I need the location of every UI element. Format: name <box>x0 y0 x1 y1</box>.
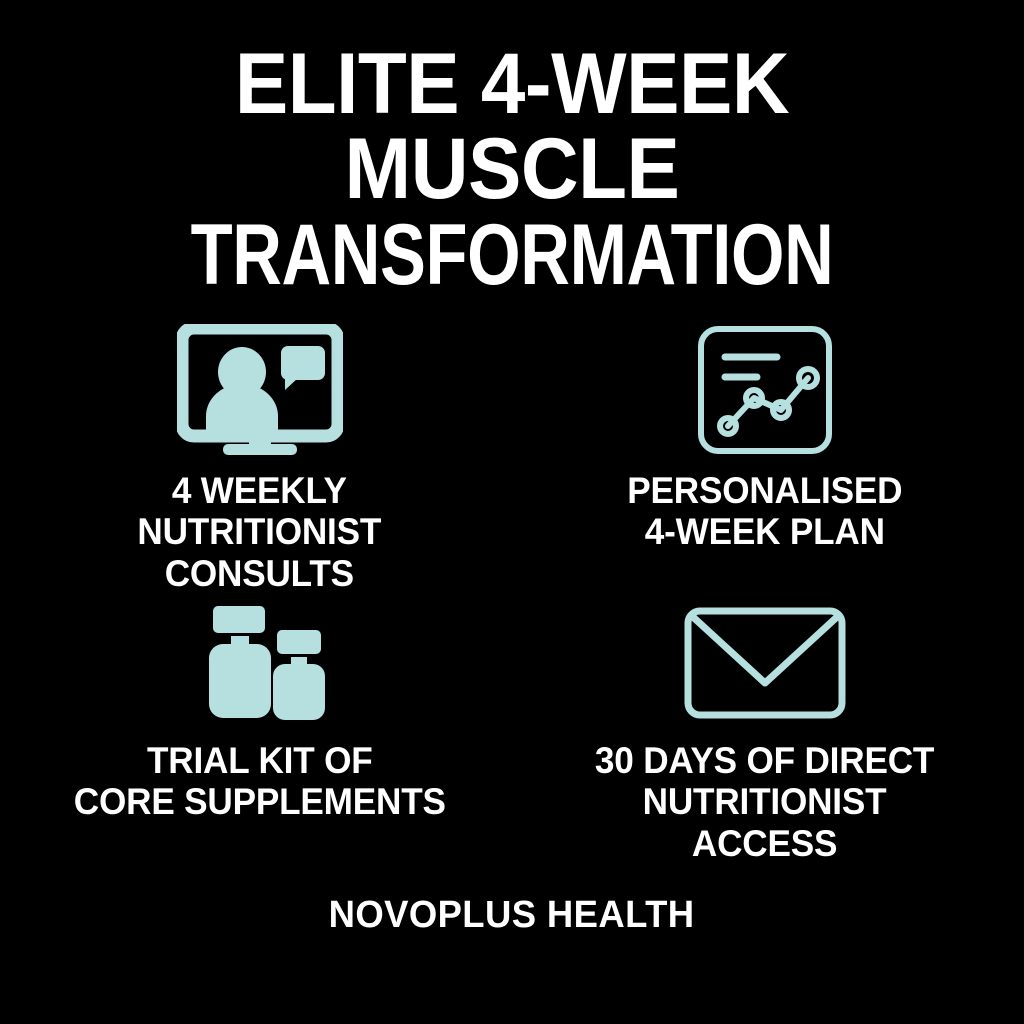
caption-line-2: 4-WEEK PLAN <box>627 511 902 552</box>
feature-item-consults: 4 WEEKLY NUTRITIONIST CONSULTS <box>12 324 507 594</box>
caption-line-3: ACCESS <box>595 823 934 864</box>
caption-line-1: 4 WEEKLY <box>138 470 382 511</box>
video-consult-monitor-icon <box>175 324 345 456</box>
caption-line-1: 30 DAYS OF DIRECT <box>595 740 934 781</box>
caption-line-2: CORE SUPPLEMENTS <box>74 781 446 822</box>
caption-line-1: TRIAL KIT OF <box>74 740 446 781</box>
caption-line-2: NUTRITIONIST <box>595 781 934 822</box>
supplement-bottles-icon <box>175 600 345 726</box>
feature-item-access: 30 DAYS OF DIRECT NUTRITIONIST ACCESS <box>517 600 1012 864</box>
feature-item-supplements: TRIAL KIT OF CORE SUPPLEMENTS <box>12 600 507 864</box>
feature-grid: 4 WEEKLY NUTRITIONIST CONSULTS <box>12 324 1012 865</box>
feature-caption: TRIAL KIT OF CORE SUPPLEMENTS <box>74 740 446 823</box>
progress-chart-icon <box>680 324 850 456</box>
caption-line-2: NUTRITIONIST <box>138 511 382 552</box>
feature-caption: 30 DAYS OF DIRECT NUTRITIONIST ACCESS <box>595 740 934 864</box>
feature-caption: PERSONALISED 4-WEEK PLAN <box>627 470 902 553</box>
caption-line-3: CONSULTS <box>138 553 382 594</box>
feature-caption: 4 WEEKLY NUTRITIONIST CONSULTS <box>138 470 382 594</box>
brand-footer: NOVOPLUS HEALTH <box>329 894 695 937</box>
promo-poster: ELITE 4-WEEK MUSCLE TRANSFORMATION <box>0 0 1024 1024</box>
feature-item-plan: PERSONALISED 4-WEEK PLAN <box>517 324 1012 594</box>
caption-line-1: PERSONALISED <box>627 470 902 511</box>
envelope-icon <box>680 600 850 726</box>
page-title: ELITE 4-WEEK MUSCLE TRANSFORMATION <box>32 44 992 298</box>
title-line-3: TRANSFORMATION <box>128 212 896 298</box>
title-line-1: ELITE 4-WEEK <box>66 44 959 126</box>
title-line-2: MUSCLE <box>66 126 959 212</box>
